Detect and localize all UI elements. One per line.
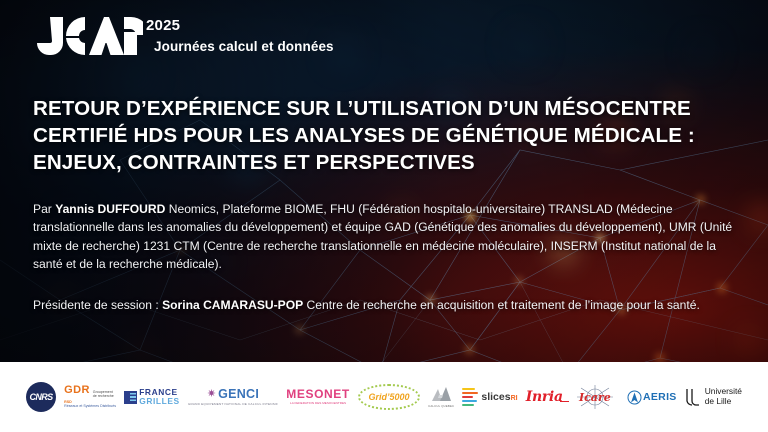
mesonet-sub: LA FEDERATION DES MESOCENTRES xyxy=(290,402,346,405)
jcad-wordmark-icon xyxy=(33,12,143,60)
aeris-label: AERIS xyxy=(643,391,677,403)
logo-universite-de-lille: Université de Lille xyxy=(685,377,742,417)
logo-inria: Inria xyxy=(526,377,563,417)
logo-gdr: GDR Groupement de recherche RSD Réseaux … xyxy=(64,377,116,417)
logo-icare: Icare xyxy=(571,377,619,417)
logo-calcul-quebec: CALCUL QUEBEC xyxy=(428,377,454,417)
chair-prefix: Présidente de session : xyxy=(33,298,162,312)
genci-star-icon: ✷ xyxy=(207,389,216,400)
logo-year: 2025 xyxy=(146,18,334,33)
speaker-prefix: Par xyxy=(33,202,55,216)
title-line-3: ENJEUX, CONTRAINTES ET PERSPECTIVES xyxy=(33,150,745,177)
inria-label: Inria xyxy=(526,389,563,405)
speaker-block: Par Yannis DUFFOURD Neomics, Plateforme … xyxy=(33,200,735,274)
universite-de-lille-line2: de Lille xyxy=(705,397,742,407)
logo-grid5000: Grid’5000 xyxy=(358,377,420,417)
logo-cnrs: CNRS xyxy=(26,377,56,417)
partner-logo-bar: CNRS GDR Groupement de recherche RSD Rés… xyxy=(0,362,768,432)
genci-sub: GRAND EQUIPEMENT NATIONAL DE CALCUL INTE… xyxy=(188,403,278,406)
icare-label: Icare xyxy=(579,391,611,404)
title-line-1: RETOUR D’EXPÉRIENCE SUR L’UTILISATION D’… xyxy=(33,96,745,123)
calcul-quebec-sub: CALCUL QUEBEC xyxy=(428,405,454,408)
logo-genci: ✷ GENCI GRAND EQUIPEMENT NATIONAL DE CAL… xyxy=(188,377,278,417)
speaker-paragraph: Par Yannis DUFFOURD Neomics, Plateforme … xyxy=(33,200,735,274)
chair-name: Sorina CAMARASU-POP xyxy=(162,298,303,312)
gdr-label: GDR xyxy=(64,385,90,396)
slices-label2: RI xyxy=(511,395,518,402)
mesonet-label: MESONET xyxy=(286,388,350,400)
gdr-line2: de recherche xyxy=(93,394,114,398)
speaker-name: Yannis DUFFOURD xyxy=(55,202,165,216)
gdr-line4: Réseaux et Systèmes Distribués xyxy=(64,405,116,409)
aeris-icon xyxy=(627,390,642,405)
title-line-2: CERTIFIÉ HDS POUR LES ANALYSES DE GÉNÉTI… xyxy=(33,123,745,150)
logo-france-grilles: FRANCE GRILLES xyxy=(124,377,180,417)
logo-mesonet: MESONET LA FEDERATION DES MESOCENTRES xyxy=(286,377,350,417)
gdr-line1: Groupement xyxy=(93,390,113,394)
cnrs-label: CNRS xyxy=(29,392,52,402)
france-grilles-icon xyxy=(124,391,137,404)
chair-paragraph: Présidente de session : Sorina CAMARASU-… xyxy=(33,296,735,314)
calcul-quebec-icon xyxy=(430,386,452,403)
cnrs-icon: CNRS xyxy=(26,382,56,412)
chair-affiliation: Centre de recherche en acquisition et tr… xyxy=(303,298,700,312)
slide-root: 2025 Journées calcul et données RETOUR D… xyxy=(0,0,768,432)
chair-block: Présidente de session : Sorina CAMARASU-… xyxy=(33,296,735,314)
france-grilles-label2: GRILLES xyxy=(139,397,180,406)
logo-tagline: Journées calcul et données xyxy=(154,40,334,54)
slide-title: RETOUR D’EXPÉRIENCE SUR L’UTILISATION D’… xyxy=(33,96,745,176)
jcad-logo: 2025 Journées calcul et données xyxy=(33,12,334,60)
logo-aeris: AERIS xyxy=(627,377,677,417)
slices-bars-icon xyxy=(462,388,478,407)
logo-slices-ri: slicesRI xyxy=(462,377,517,417)
genci-label: GENCI xyxy=(218,388,259,401)
slices-label: slices xyxy=(481,391,510,403)
grid5000-label: Grid’5000 xyxy=(368,392,409,402)
universite-de-lille-icon xyxy=(685,388,701,406)
